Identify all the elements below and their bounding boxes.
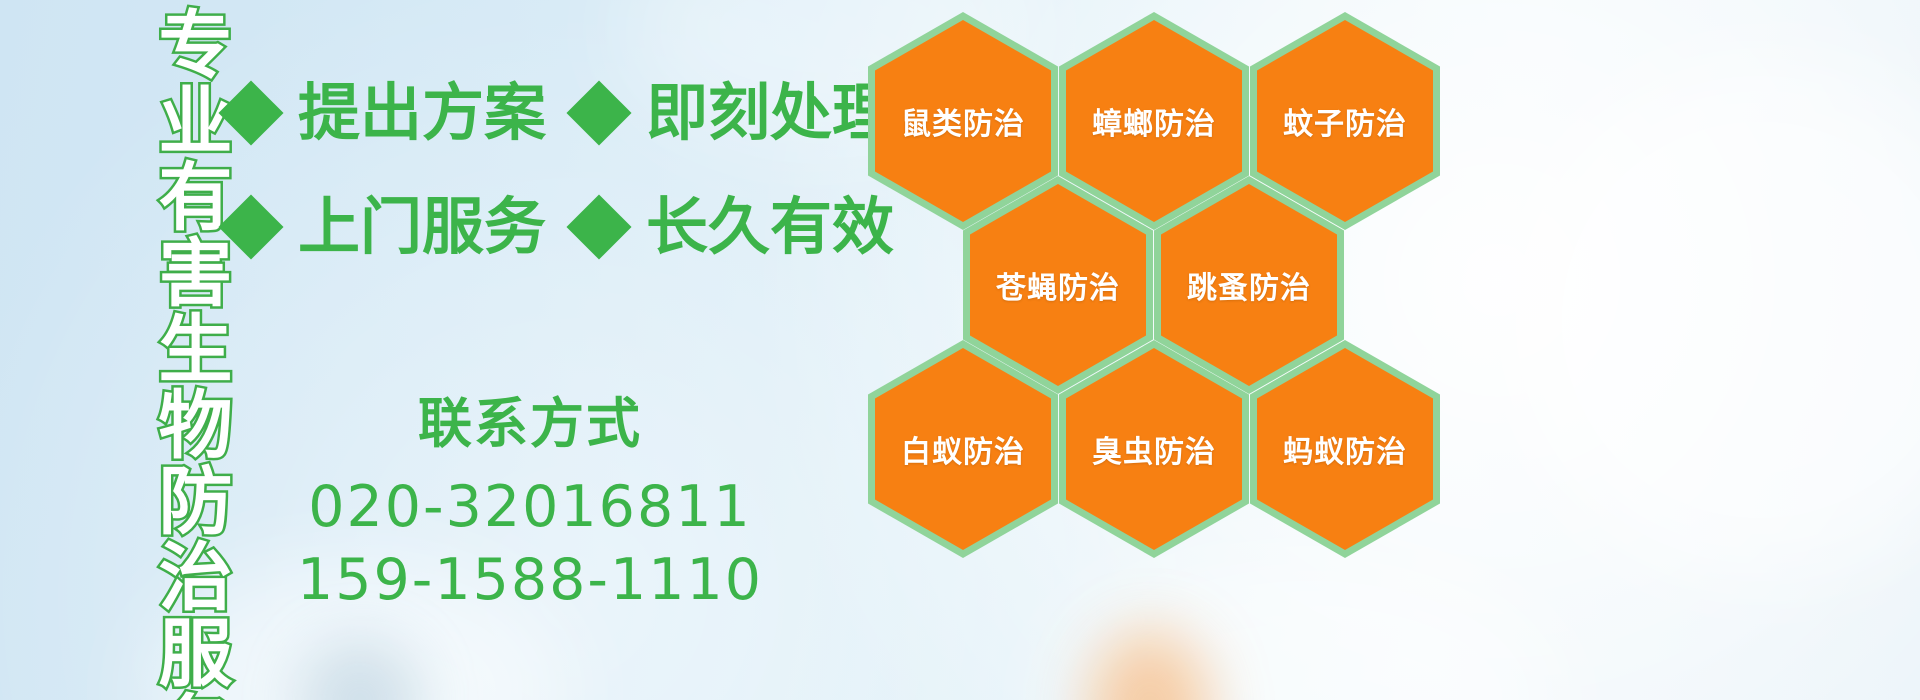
hex-inner: 苍蝇防治 [970,184,1146,386]
hex-label: 蚊子防治 [1283,99,1407,143]
feature-label: 长久有效 [646,196,894,258]
service-honeycomb: 鼠类防治 蟑螂防治 蚊子防治 苍蝇防治 跳蚤防治 白蚁防治 [862,0,1462,700]
background-blob [1500,60,1920,580]
contact-title: 联系方式 [250,396,810,453]
diamond-icon [218,80,283,145]
diamond-icon [566,80,631,145]
hex-label: 蚂蚁防治 [1283,427,1407,471]
feature-label: 即刻处理 [646,82,894,144]
phone-number-mobile[interactable]: 159-1588-1110 [250,544,810,617]
hex-inner: 白蚁防治 [875,348,1051,550]
hex-label: 蟑螂防治 [1092,99,1216,143]
hex-inner: 跳蚤防治 [1161,184,1337,386]
feature-line-2: 上门服务 长久有效 [228,196,916,258]
hex-label: 鼠类防治 [901,99,1025,143]
hex-inner: 蚊子防治 [1257,20,1433,222]
feature-line-1: 提出方案 即刻处理 [228,82,916,144]
background-blob [300,640,420,700]
contact-block: 联系方式 020-32016811 159-1588-1110 [250,396,810,617]
hex-label: 白蚁防治 [901,427,1025,471]
promo-banner: 专业有害生物防治服务 提出方案 即刻处理 上门服务 长久有效 联系方式 020-… [0,0,1920,700]
vertical-slogan: 专业有害生物防治服务 [108,6,226,700]
hex-inner: 蚂蚁防治 [1257,348,1433,550]
feature-label: 上门服务 [298,196,546,258]
diamond-icon [566,194,631,259]
hex-label: 苍蝇防治 [996,263,1120,307]
feature-label: 提出方案 [298,82,546,144]
diamond-icon [218,194,283,259]
hex-inner: 蟑螂防治 [1066,20,1242,222]
hex-inner: 鼠类防治 [875,20,1051,222]
hex-label: 臭虫防治 [1092,427,1216,471]
hex-label: 跳蚤防治 [1187,263,1311,307]
hex-inner: 臭虫防治 [1066,348,1242,550]
phone-number-landline[interactable]: 020-32016811 [250,471,810,544]
